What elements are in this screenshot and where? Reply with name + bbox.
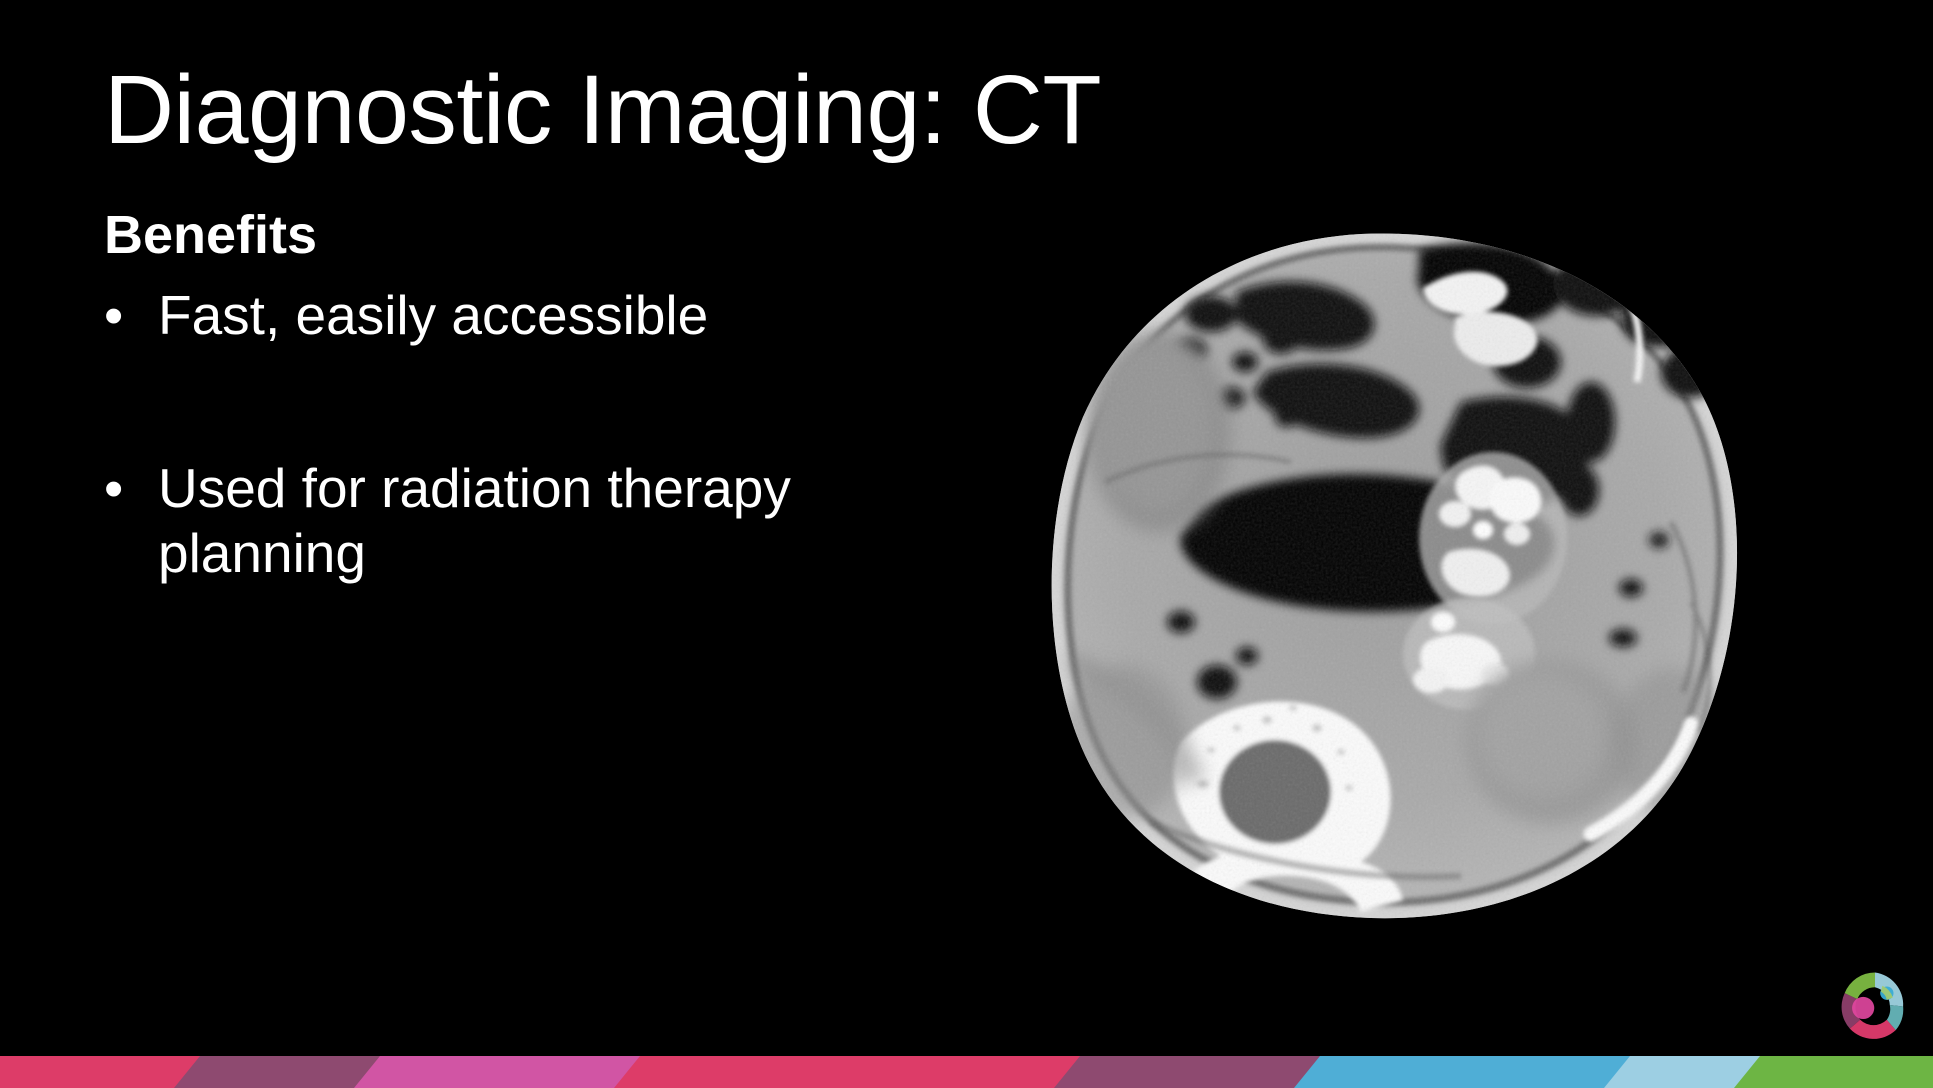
- band-segment-crimson-2: [614, 1056, 1120, 1088]
- brand-logo-graphic: [1838, 968, 1912, 1042]
- bullet-point-icon: •: [104, 283, 123, 348]
- ct-scan-image: [1031, 222, 1751, 922]
- benefits-bullet-list: • Fast, easily accessible • Used for rad…: [104, 283, 904, 586]
- page-title: Diagnostic Imaging: CT: [104, 58, 1404, 163]
- ct-scan-graphic: [1031, 222, 1751, 922]
- list-item: • Fast, easily accessible: [104, 283, 904, 348]
- list-item: • Used for radiation therapy planning: [104, 456, 904, 586]
- decorative-color-band: [0, 1056, 1933, 1088]
- bullet-spacer: [104, 348, 904, 456]
- brand-logo-icon: [1838, 968, 1912, 1042]
- bullet-point-icon: •: [104, 456, 123, 521]
- list-item-label: Used for radiation therapy planning: [158, 457, 791, 584]
- slide-body-content: Benefits • Fast, easily accessible • Use…: [104, 205, 904, 586]
- benefits-heading: Benefits: [104, 205, 904, 265]
- list-item-label: Fast, easily accessible: [158, 284, 708, 346]
- band-segment-green: [1734, 1056, 1933, 1088]
- presentation-slide: Diagnostic Imaging: CT Benefits • Fast, …: [0, 0, 1933, 1088]
